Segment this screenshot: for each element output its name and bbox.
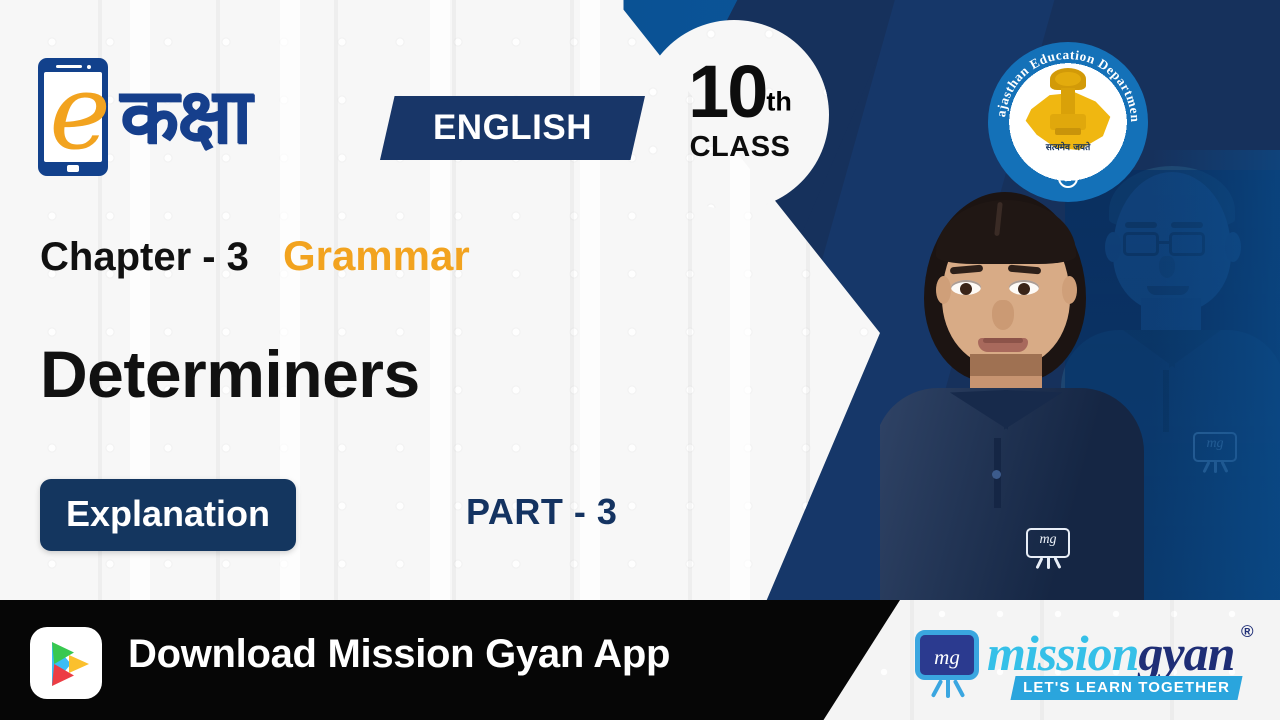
ashoka-lion-capital-icon — [1046, 68, 1090, 138]
thumbnail-canvas: mg — [0, 0, 1280, 720]
mg-board-icon: mg — [915, 630, 979, 680]
topic-category-label: Grammar — [283, 232, 470, 280]
ear-left — [936, 276, 951, 304]
class-number: 10 — [688, 55, 766, 129]
logo-letter-e: e — [44, 68, 116, 160]
subject-banner: ENGLISH — [380, 96, 645, 160]
chapter-label: Chapter - 3 — [40, 235, 249, 280]
tagline-ribbon: LET'S LEARN TOGETHER — [1010, 676, 1242, 700]
lion-heads — [1055, 72, 1081, 86]
class-ordinal-suffix: th — [766, 87, 791, 117]
lion-pillar — [1061, 88, 1075, 116]
play-yellow-wedge — [69, 655, 89, 673]
board-leg-right — [953, 679, 965, 698]
shirt-button — [992, 470, 1001, 479]
female-instructor-photo: mg — [880, 198, 1140, 600]
emblem-motto: सत्यमेव जयते — [1018, 140, 1118, 153]
explanation-badge[interactable]: Explanation — [40, 479, 296, 551]
part-label: PART - 3 — [466, 491, 617, 533]
tablet-icon: e — [38, 58, 108, 176]
tagline-label: LET'S LEARN TOGETHER — [1023, 679, 1230, 696]
page-title: Determiners — [40, 336, 420, 412]
board-leg-left — [931, 679, 943, 698]
wordmark-mission: mission — [987, 625, 1138, 681]
class-badge: 10th CLASS — [660, 55, 820, 195]
ear-right — [1062, 276, 1077, 304]
lion-base — [1055, 128, 1081, 135]
neck-shadow — [970, 354, 1042, 376]
google-play-triangle — [52, 642, 92, 686]
class-number-row: 10th — [660, 55, 820, 129]
pupil-left — [960, 283, 972, 295]
download-cta-label: Download Mission Gyan App — [128, 632, 670, 677]
rajasthan-education-department-emblem: Rajasthan Education Department सत्यमेव ज… — [988, 42, 1148, 202]
mg-board-label: mg — [920, 645, 974, 670]
hair-top — [936, 200, 1076, 264]
upper-lip — [983, 338, 1023, 343]
board-leg-center — [946, 678, 950, 698]
pupil-right — [1018, 283, 1030, 295]
missiongyan-wordmark: missiongyan — [987, 624, 1234, 682]
nose — [992, 300, 1014, 330]
class-word-label: CLASS — [660, 131, 820, 164]
emblem-center-glyph: ॐ — [1058, 168, 1078, 188]
mg-board-legs — [931, 678, 971, 700]
board-leg-left — [1035, 557, 1043, 569]
registered-trademark-mark: ® — [1241, 622, 1254, 642]
chapter-row: Chapter - 3 Grammar — [40, 232, 470, 280]
missiongyan-logo[interactable]: mg missiongyan ® LET'S LEARN TOGETHER — [915, 618, 1265, 708]
wordmark-gyan: gyan — [1138, 625, 1234, 681]
instructors-photo-group: mg — [880, 150, 1280, 600]
board-leg-right — [1053, 557, 1061, 569]
mg-chest-label: mg — [1026, 532, 1070, 548]
ekaksha-logo[interactable]: e कक्षा — [38, 58, 368, 178]
mg-chest-logo: mg — [1026, 528, 1070, 568]
logo-word-kaksha: कक्षा — [120, 64, 251, 168]
board-leg-center — [1047, 557, 1050, 569]
subject-banner-label: ENGLISH — [433, 108, 592, 148]
